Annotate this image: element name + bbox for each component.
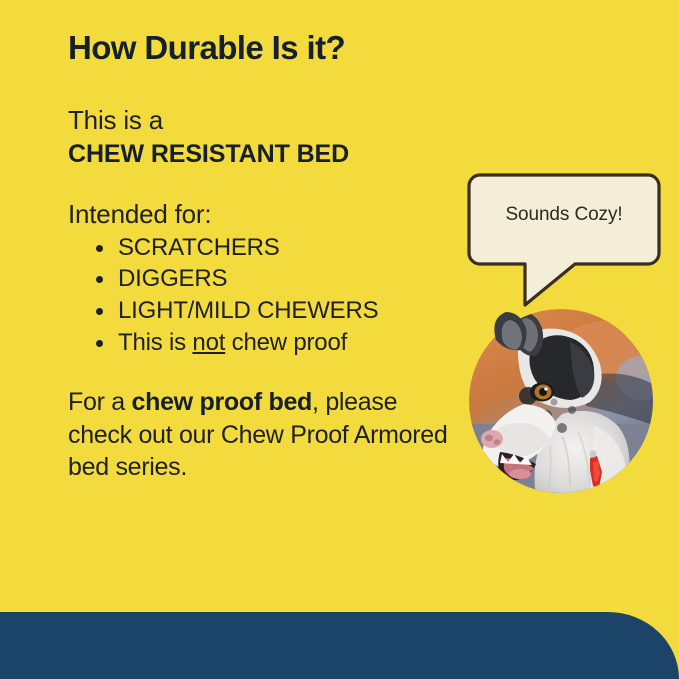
closing-prefix: For a <box>68 388 132 416</box>
list-item-emphasis: not <box>192 329 225 356</box>
infographic-canvas: How Durable Is it? This is a CHEW RESIST… <box>0 0 679 679</box>
product-type-name: CHEW RESISTANT BED <box>68 138 468 171</box>
bottom-navy-band <box>0 612 679 679</box>
intended-for-label: Intended for: <box>68 199 468 230</box>
list-item-prefix: This is <box>118 329 192 356</box>
speech-bubble-shape <box>466 172 662 308</box>
speech-bubble: Sounds Cozy! <box>466 172 662 308</box>
page-title: How Durable Is it? <box>68 30 468 66</box>
intended-for-list: SCRATCHERS DIGGERS LIGHT/MILD CHEWERS Th… <box>68 232 468 359</box>
list-item-label: DIGGERS <box>118 265 227 292</box>
speech-bubble-text: Sounds Cozy! <box>466 204 662 226</box>
list-item: LIGHT/MILD CHEWERS <box>96 295 468 327</box>
text-column: How Durable Is it? This is a CHEW RESIST… <box>68 30 468 484</box>
dog-photo <box>466 306 656 496</box>
list-item-label: LIGHT/MILD CHEWERS <box>118 297 378 324</box>
product-type-statement: This is a CHEW RESISTANT BED <box>68 104 468 170</box>
product-type-prefix: This is a <box>68 104 468 138</box>
list-item-label: SCRATCHERS <box>118 234 280 261</box>
list-item-suffix: chew proof <box>225 329 347 356</box>
closing-bold: chew proof bed <box>132 388 313 416</box>
dog-photo-image <box>466 306 656 496</box>
list-item: SCRATCHERS <box>96 232 468 264</box>
closing-paragraph: For a chew proof bed, please check out o… <box>68 386 458 484</box>
list-item: This is not chew proof <box>96 327 468 359</box>
list-item: DIGGERS <box>96 263 468 295</box>
